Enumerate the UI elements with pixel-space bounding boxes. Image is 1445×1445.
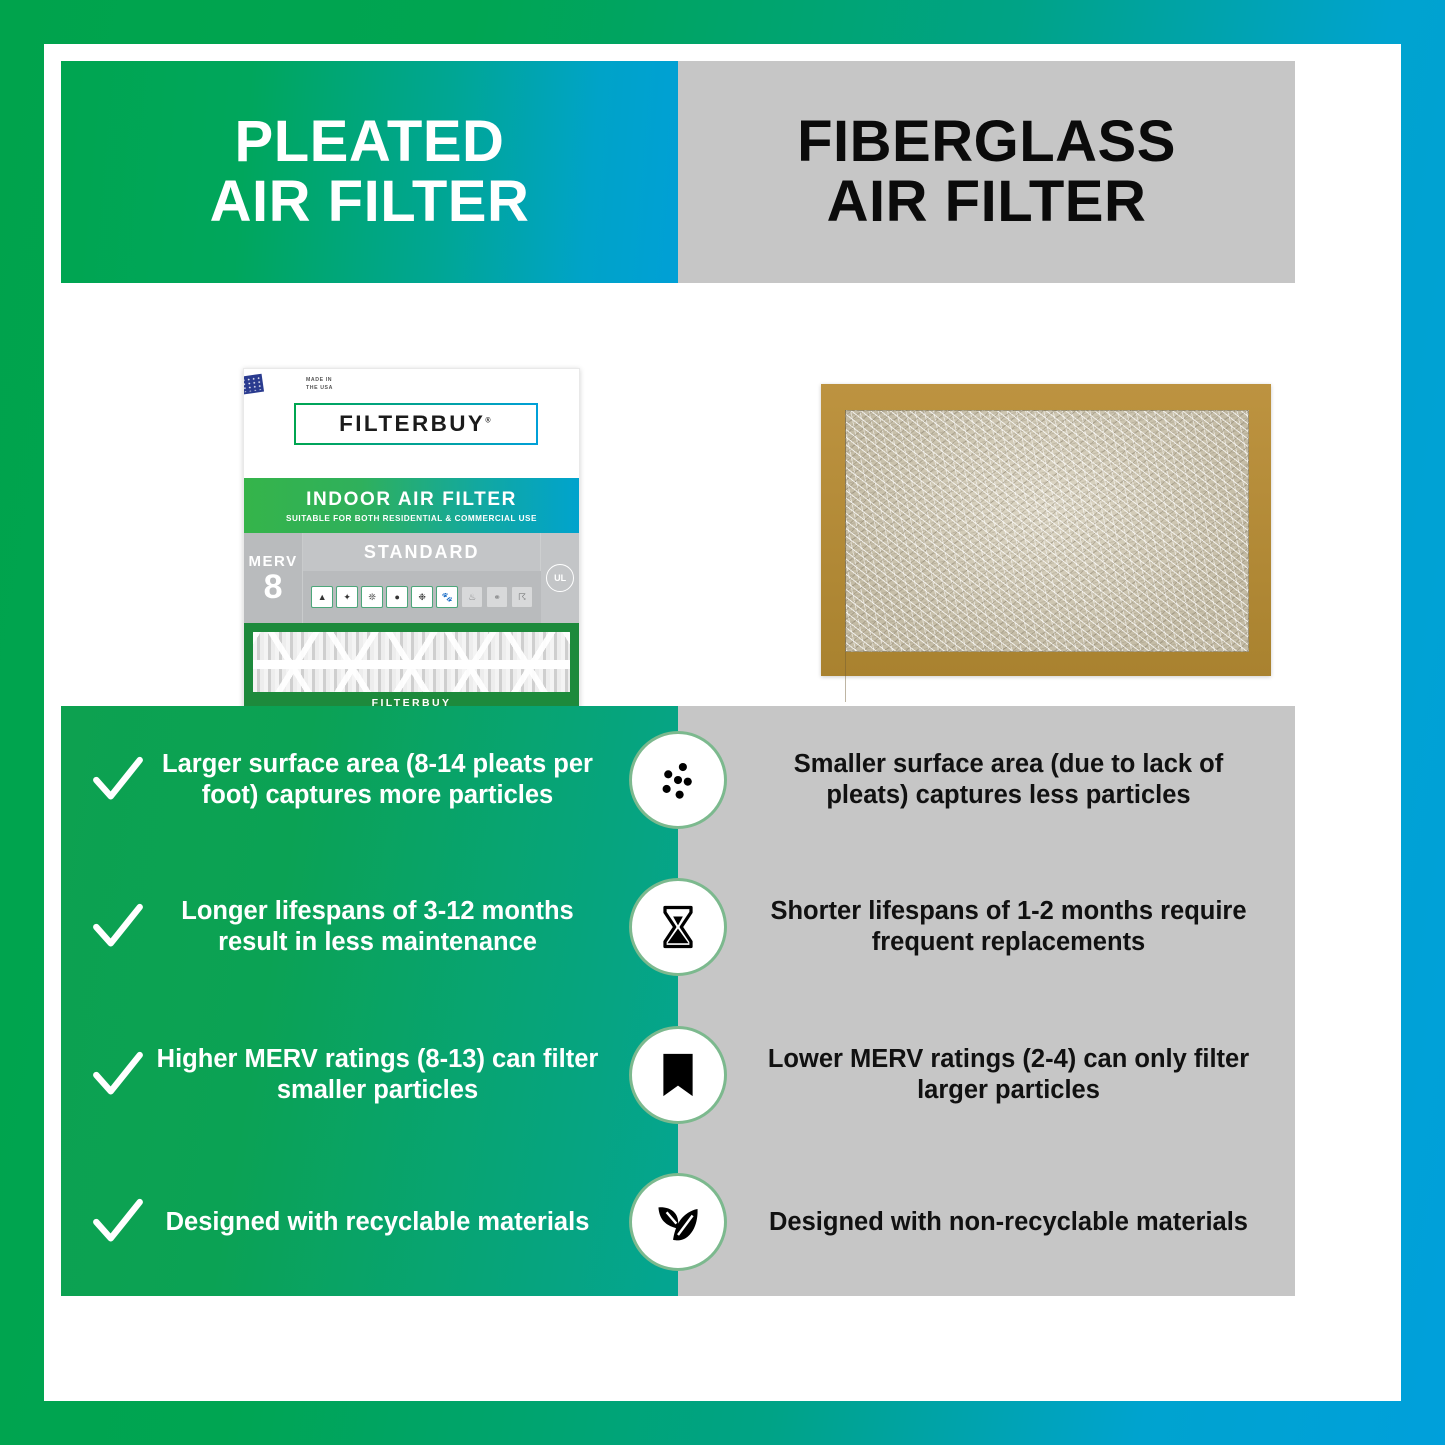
merv-label: MERV bbox=[249, 553, 298, 570]
feature-icon-strip: ▲ ✦ ❊ ● ❉ 🐾 ♨ ⚭ ☈ bbox=[303, 571, 541, 623]
row-left-cell: Higher MERV ratings (8-13) can filter sm… bbox=[61, 1044, 678, 1106]
cardboard-frame-seam bbox=[845, 410, 846, 702]
row-left-text: Higher MERV ratings (8-13) can filter sm… bbox=[149, 1044, 606, 1106]
header-fiberglass-title: FIBERGLASS AIR FILTER bbox=[797, 112, 1176, 233]
household-dust-icon: ▲ bbox=[311, 586, 333, 608]
pleated-media-photo: FILTERBUY bbox=[244, 623, 579, 712]
row-right-cell: Shorter lifespans of 1-2 months require … bbox=[678, 896, 1295, 958]
checkmark-icon bbox=[87, 1191, 149, 1253]
infographic-poster: PLEATED AIR FILTER FIBERGLASS AIR FILTER bbox=[0, 0, 1445, 1445]
particles-dots-icon bbox=[629, 731, 727, 829]
row-left-cell: Designed with recyclable materials bbox=[61, 1191, 678, 1253]
header-pleated-title: PLEATED AIR FILTER bbox=[210, 112, 530, 233]
row-right-text: Designed with non-recyclable materials bbox=[750, 1207, 1267, 1238]
comparison-row: Designed with recyclable materials Desig… bbox=[61, 1149, 1295, 1297]
comparison-row: Longer lifespans of 3-12 months result i… bbox=[61, 854, 1295, 1002]
fiberglass-filter-image bbox=[821, 384, 1271, 676]
header-pleated-line2: AIR FILTER bbox=[210, 172, 530, 232]
row-right-cell: Smaller surface area (due to lack of ple… bbox=[678, 749, 1295, 811]
header-fiberglass-line2: AIR FILTER bbox=[797, 172, 1176, 232]
spec-band: MERV 8 STANDARD ▲ ✦ ❊ ● ❉ 🐾 ♨ ⚭ ☈ bbox=[244, 533, 579, 623]
indoor-air-filter-band: INDOOR AIR FILTER SUITABLE FOR BOTH RESI… bbox=[244, 478, 579, 533]
row-left-cell: Longer lifespans of 3-12 months result i… bbox=[61, 896, 678, 958]
row-left-text: Longer lifespans of 3-12 months result i… bbox=[149, 896, 606, 958]
checkmark-icon bbox=[87, 896, 149, 958]
row-right-text: Shorter lifespans of 1-2 months require … bbox=[750, 896, 1267, 958]
made-in-usa-label: MADE IN THE USA bbox=[306, 377, 333, 393]
comparison-row: Higher MERV ratings (8-13) can filter sm… bbox=[61, 1001, 1295, 1149]
pleat-texture bbox=[253, 632, 570, 692]
header-fiberglass: FIBERGLASS AIR FILTER bbox=[678, 61, 1295, 283]
certification-cell: UL bbox=[541, 533, 579, 623]
row-left-text: Designed with recyclable materials bbox=[149, 1207, 606, 1238]
pollen-icon: ❊ bbox=[361, 586, 383, 608]
row-left-text: Larger surface area (8-14 pleats per foo… bbox=[149, 749, 606, 811]
virus-icon: ☈ bbox=[511, 586, 533, 608]
header-pleated-line1: PLEATED bbox=[235, 109, 505, 174]
ul-certification-icon: UL bbox=[546, 564, 574, 592]
leaf-eco-icon bbox=[629, 1173, 727, 1271]
made-in-line1: MADE IN bbox=[306, 377, 333, 385]
header-fiberglass-line1: FIBERGLASS bbox=[797, 109, 1176, 174]
grade-label: STANDARD bbox=[303, 533, 541, 571]
row-right-cell: Lower MERV ratings (2-4) can only filter… bbox=[678, 1044, 1295, 1106]
pleated-filter-box-image: MADE IN THE USA FILTERBUY® INDOOR AIR FI… bbox=[243, 368, 580, 713]
pet-dander-icon: 🐾 bbox=[436, 586, 458, 608]
filterbuy-logo-text: FILTERBUY® bbox=[339, 411, 493, 437]
lint-icon: ✦ bbox=[336, 586, 358, 608]
bacteria-icon: ⚭ bbox=[486, 586, 508, 608]
box-top-section: MADE IN THE USA FILTERBUY® bbox=[244, 369, 579, 478]
comparison-rows: Larger surface area (8-14 pleats per foo… bbox=[61, 706, 1295, 1296]
filterbuy-logo-frame: FILTERBUY® bbox=[294, 403, 538, 445]
bookmark-ribbon-icon bbox=[629, 1026, 727, 1124]
row-left-cell: Larger surface area (8-14 pleats per foo… bbox=[61, 749, 678, 811]
checkmark-icon bbox=[87, 1044, 149, 1106]
checkmark-icon bbox=[87, 749, 149, 811]
mold-icon: ● bbox=[386, 586, 408, 608]
fiberglass-mesh-texture bbox=[845, 410, 1249, 652]
header-pleated: PLEATED AIR FILTER bbox=[61, 61, 678, 283]
product-images-band: MADE IN THE USA FILTERBUY® INDOOR AIR FI… bbox=[61, 283, 1295, 701]
flag-canton bbox=[243, 374, 264, 396]
flag-stars bbox=[243, 376, 262, 393]
row-right-text: Smaller surface area (due to lack of ple… bbox=[750, 749, 1267, 811]
grade-column: STANDARD ▲ ✦ ❊ ● ❉ 🐾 ♨ ⚭ ☈ bbox=[303, 533, 541, 623]
comparison-row: Larger surface area (8-14 pleats per foo… bbox=[61, 706, 1295, 854]
merv-value: 8 bbox=[264, 570, 283, 604]
band-title: INDOOR AIR FILTER bbox=[306, 489, 517, 511]
comparison-section: Larger surface area (8-14 pleats per foo… bbox=[61, 706, 1295, 1296]
hourglass-icon bbox=[629, 878, 727, 976]
smoke-icon: ♨ bbox=[461, 586, 483, 608]
band-subtitle: SUITABLE FOR BOTH RESIDENTIAL & COMMERCI… bbox=[286, 514, 537, 523]
row-right-cell: Designed with non-recyclable materials bbox=[678, 1207, 1295, 1238]
header-row: PLEATED AIR FILTER FIBERGLASS AIR FILTER bbox=[61, 61, 1295, 283]
center-support-bar bbox=[253, 660, 570, 669]
made-in-line2: THE USA bbox=[306, 385, 333, 393]
row-right-text: Lower MERV ratings (2-4) can only filter… bbox=[750, 1044, 1267, 1106]
dust-mites-icon: ❉ bbox=[411, 586, 433, 608]
merv-rating-cell: MERV 8 bbox=[244, 533, 303, 623]
